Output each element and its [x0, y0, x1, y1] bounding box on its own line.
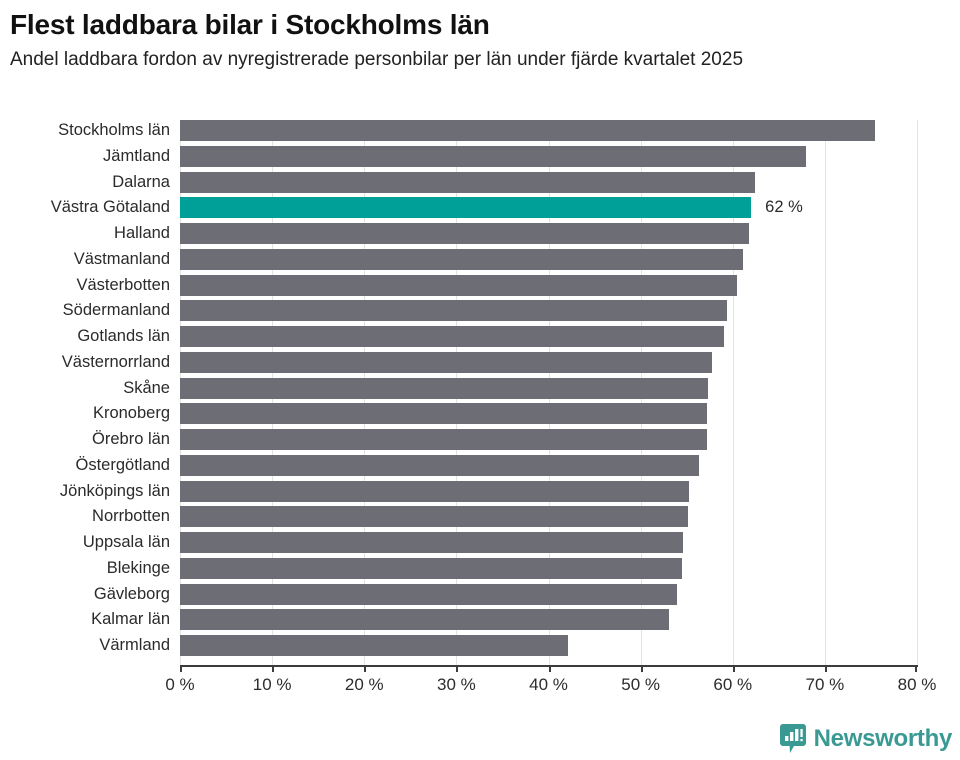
category-label: Gävleborg — [0, 584, 170, 605]
bar[interactable] — [180, 609, 669, 630]
bar[interactable] — [180, 146, 806, 167]
bar-row: Östergötland — [0, 455, 960, 476]
bar-value-label: 62 % — [765, 197, 803, 218]
bar[interactable] — [180, 558, 682, 579]
category-label: Örebro län — [0, 429, 170, 450]
chart-title: Flest laddbara bilar i Stockholms län — [10, 8, 950, 42]
x-tick-label: 0 % — [165, 675, 194, 695]
bar-row: Södermanland — [0, 300, 960, 321]
bar-row: Örebro län — [0, 429, 960, 450]
category-label: Norrbotten — [0, 506, 170, 527]
bar[interactable] — [180, 352, 712, 373]
bar-row: Västerbotten — [0, 275, 960, 296]
category-label: Stockholms län — [0, 120, 170, 141]
bar[interactable] — [180, 249, 743, 270]
category-label: Västerbotten — [0, 275, 170, 296]
bar-chart: Stockholms länJämtlandDalarnaVästra Göta… — [0, 112, 960, 712]
category-label: Värmland — [0, 635, 170, 656]
bar-row: Västra Götaland62 % — [0, 197, 960, 218]
bar[interactable] — [180, 172, 755, 193]
category-label: Västra Götaland — [0, 197, 170, 218]
bar-row: Stockholms län — [0, 120, 960, 141]
category-label: Södermanland — [0, 300, 170, 321]
x-tick-label: 20 % — [345, 675, 384, 695]
bar-row: Skåne — [0, 378, 960, 399]
bar-row: Kronoberg — [0, 403, 960, 424]
bar-row: Gotlands län — [0, 326, 960, 347]
category-label: Uppsala län — [0, 532, 170, 553]
x-tick-mark — [641, 665, 643, 672]
category-label: Skåne — [0, 378, 170, 399]
x-tick-mark — [272, 665, 274, 672]
bar-row: Dalarna — [0, 172, 960, 193]
bar[interactable] — [180, 429, 707, 450]
bar-row: Västmanland — [0, 249, 960, 270]
x-tick-label: 40 % — [529, 675, 568, 695]
category-label: Kronoberg — [0, 403, 170, 424]
x-tick-label: 50 % — [621, 675, 660, 695]
bar[interactable] — [180, 532, 683, 553]
category-label: Västmanland — [0, 249, 170, 270]
bar[interactable] — [180, 378, 708, 399]
x-tick-mark — [364, 665, 366, 672]
bar-row: Uppsala län — [0, 532, 960, 553]
category-label: Gotlands län — [0, 326, 170, 347]
bar-row: Halland — [0, 223, 960, 244]
category-label: Västernorrland — [0, 352, 170, 373]
bar-row: Värmland — [0, 635, 960, 656]
x-tick-mark — [825, 665, 827, 672]
x-tick-mark — [180, 665, 182, 672]
category-label: Blekinge — [0, 558, 170, 579]
bar[interactable] — [180, 300, 727, 321]
x-tick-mark — [456, 665, 458, 672]
bar[interactable] — [180, 275, 737, 296]
x-tick-label: 70 % — [806, 675, 845, 695]
x-tick-label: 60 % — [713, 675, 752, 695]
bar-row: Kalmar län — [0, 609, 960, 630]
newsworthy-logo[interactable]: Newsworthy — [780, 724, 952, 754]
bar[interactable] — [180, 120, 875, 141]
bar[interactable] — [180, 584, 677, 605]
category-label: Kalmar län — [0, 609, 170, 630]
bar[interactable] — [180, 455, 699, 476]
category-label: Dalarna — [0, 172, 170, 193]
category-label: Jönköpings län — [0, 481, 170, 502]
bar-highlighted[interactable] — [180, 197, 751, 218]
category-label: Jämtland — [0, 146, 170, 167]
bar-row: Gävleborg — [0, 584, 960, 605]
bar[interactable] — [180, 481, 689, 502]
bar-row: Jämtland — [0, 146, 960, 167]
x-tick-mark — [549, 665, 551, 672]
x-tick-label: 10 % — [253, 675, 292, 695]
newsworthy-bubble-chart-icon — [780, 724, 806, 754]
bar-row: Jönköpings län — [0, 481, 960, 502]
x-tick-label: 30 % — [437, 675, 476, 695]
x-tick-mark — [733, 665, 735, 672]
bar-row: Blekinge — [0, 558, 960, 579]
chart-subtitle: Andel laddbara fordon av nyregistrerade … — [10, 48, 950, 72]
category-label: Östergötland — [0, 455, 170, 476]
bar[interactable] — [180, 223, 749, 244]
bar[interactable] — [180, 403, 707, 424]
bar[interactable] — [180, 635, 568, 656]
chart-header: Flest laddbara bilar i Stockholms län An… — [0, 0, 960, 72]
bar-row: Norrbotten — [0, 506, 960, 527]
x-tick-mark — [915, 665, 917, 672]
x-tick-label: 80 % — [898, 675, 937, 695]
bar[interactable] — [180, 506, 688, 527]
bar[interactable] — [180, 326, 724, 347]
newsworthy-wordmark: Newsworthy — [814, 726, 952, 752]
category-label: Halland — [0, 223, 170, 244]
bar-row: Västernorrland — [0, 352, 960, 373]
